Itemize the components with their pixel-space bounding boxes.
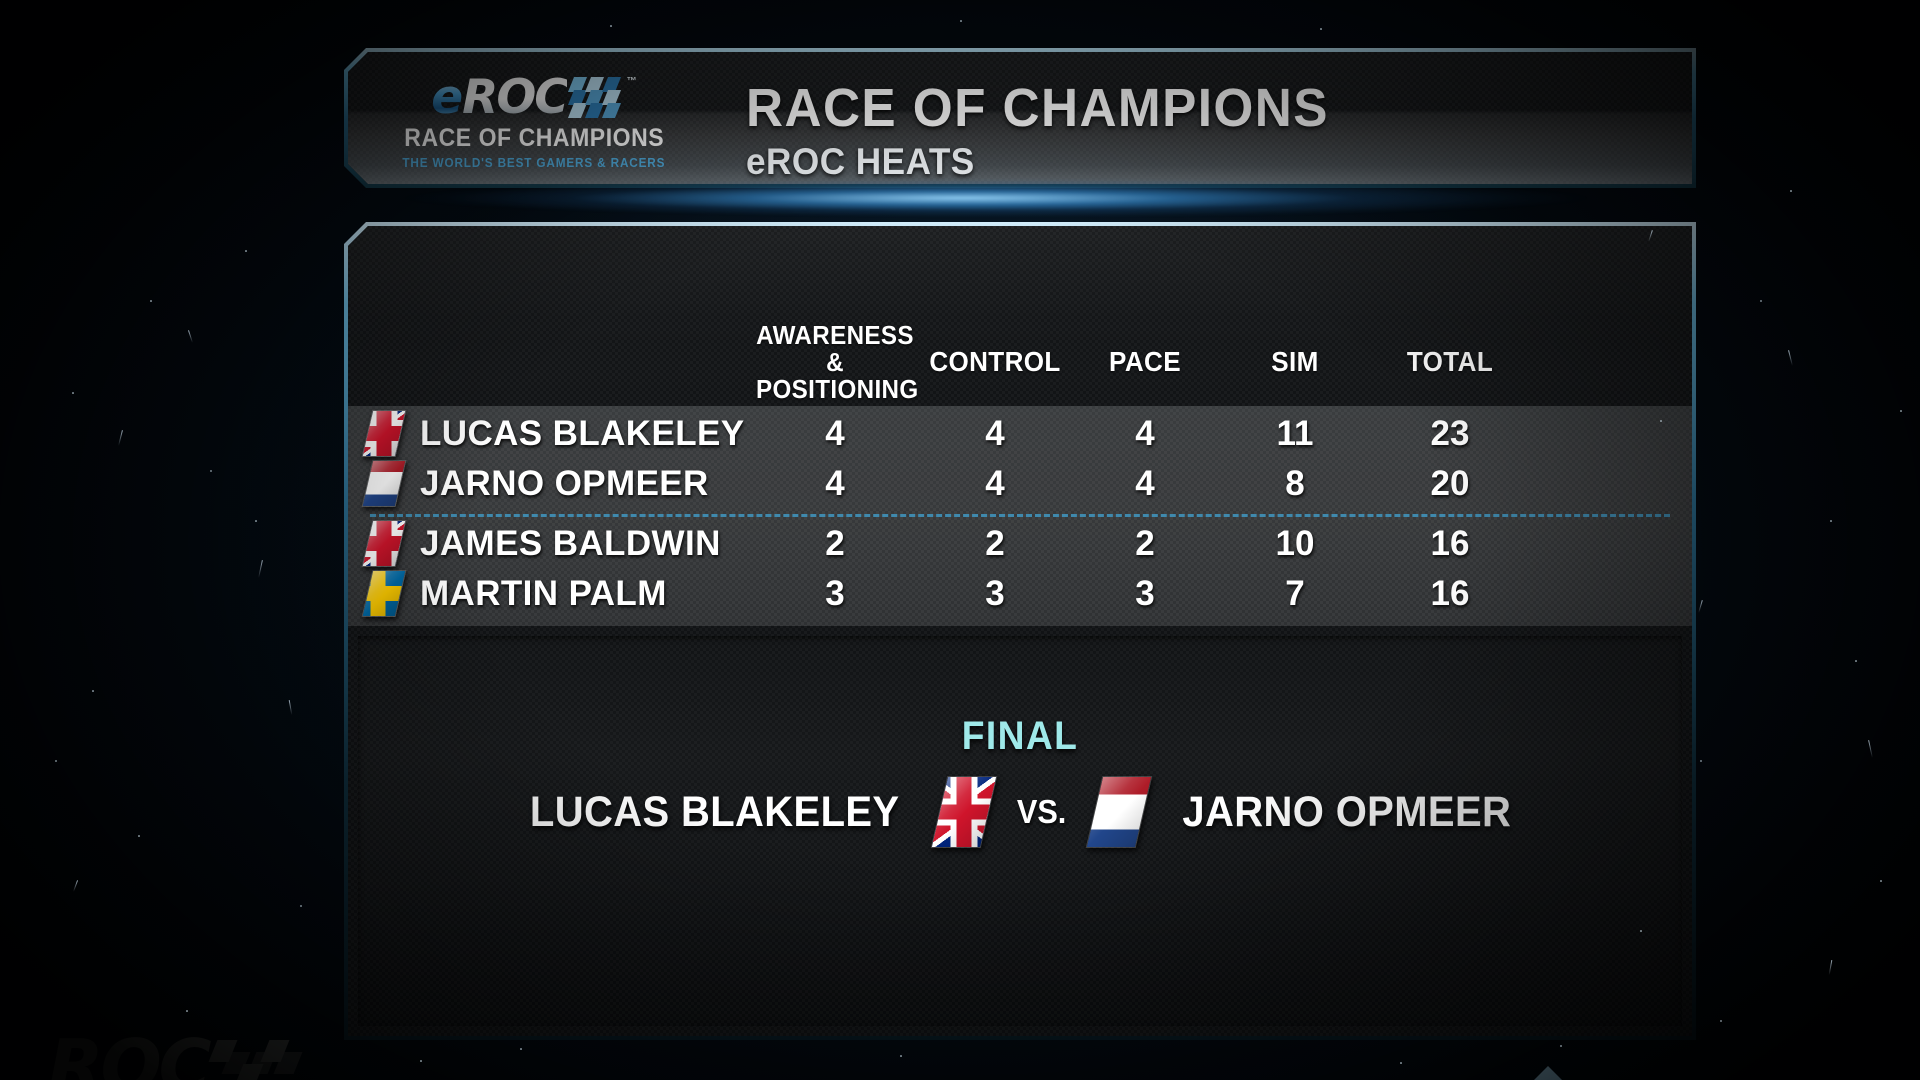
row-sim-cell: 7 — [1220, 574, 1370, 614]
column-header-control-label: CONTROL — [925, 347, 1065, 377]
corner-arrow-icon — [1534, 1066, 1562, 1080]
row-sim-cell: 10 — [1220, 524, 1370, 564]
final-left-driver-name: LUCAS BLAKELEY — [530, 788, 900, 837]
row-total-cell: 20 — [1370, 464, 1530, 504]
logo-tagline-text: THE WORLD'S BEST GAMERS & RACERS — [403, 156, 666, 170]
versus-label: VS. — [1017, 793, 1066, 831]
results-panel-frame: AWARENESS & POSITIONING CONTROL PACE SIM… — [344, 222, 1696, 1040]
column-header-sim-label: SIM — [1225, 347, 1365, 377]
driver-name: JAMES BALDWIN — [420, 524, 721, 563]
results-panel-fill: AWARENESS & POSITIONING CONTROL PACE SIM… — [348, 226, 1692, 1036]
driver-name: MARTIN PALM — [420, 574, 667, 613]
row-name-cell: JAMES BALDWIN — [420, 524, 750, 564]
row-name-cell: JARNO OPMEER — [420, 464, 750, 504]
column-header-awareness-line2: POSITIONING — [756, 376, 914, 403]
row-total-cell: 16 — [1370, 524, 1530, 564]
row-flag-cell — [348, 570, 420, 617]
header-panel-frame: e ROC ™ RACE OF CHAMPIONS THE WORLD'S BE… — [344, 48, 1696, 188]
header-panel: e ROC ™ RACE OF CHAMPIONS THE WORLD'S BE… — [344, 48, 1696, 188]
row-pace-cell: 2 — [1070, 524, 1220, 564]
row-awareness-cell: 2 — [750, 524, 920, 564]
driver-name: JARNO OPMEER — [420, 464, 709, 503]
row-total-cell: 16 — [1370, 574, 1530, 614]
flag-sweden-icon — [362, 570, 407, 617]
table-body: LUCAS BLAKELEY 4 4 4 11 23 JARNO OPM — [348, 406, 1692, 626]
header-content: e ROC ™ RACE OF CHAMPIONS THE WORLD'S BE… — [348, 52, 1692, 184]
watermark-checkered-flag-icon — [213, 1040, 297, 1080]
table-header-row: AWARENESS & POSITIONING CONTROL PACE SIM… — [348, 324, 1692, 400]
column-header-awareness-line1: AWARENESS & — [756, 322, 914, 376]
eroc-logo-wordmark: e ROC ™ — [431, 75, 637, 123]
flag-uk-icon — [362, 520, 407, 567]
column-header-total-label: TOTAL — [1376, 347, 1525, 377]
flag-netherlands-icon — [362, 460, 407, 507]
results-panel: AWARENESS & POSITIONING CONTROL PACE SIM… — [344, 222, 1696, 1040]
final-right-driver-name: JARNO OPMEER — [1183, 788, 1512, 837]
row-control-cell: 3 — [920, 574, 1070, 614]
driver-name: LUCAS BLAKELEY — [420, 414, 745, 453]
row-control-cell: 4 — [920, 464, 1070, 504]
final-label: FINAL — [404, 714, 1635, 759]
page-subtitle: eROC HEATS — [746, 141, 1329, 183]
logo-race-of-champions-text: RACE OF CHAMPIONS — [404, 124, 664, 153]
row-sim-cell: 11 — [1220, 414, 1370, 454]
logo-letters-roc: ROC — [462, 75, 567, 121]
flag-uk-icon — [362, 410, 407, 457]
final-matchup-panel: FINAL LUCAS BLAKELEY VS. JARNO OPMEER — [358, 636, 1682, 1026]
trademark-icon: ™ — [627, 76, 637, 87]
watermark-text: ROC — [48, 1034, 209, 1080]
logo-letter-e: e — [431, 75, 462, 121]
row-awareness-cell: 4 — [750, 464, 920, 504]
row-awareness-cell: 3 — [750, 574, 920, 614]
column-header-sim: SIM — [1220, 347, 1370, 377]
column-header-control: CONTROL — [920, 347, 1070, 377]
roc-watermark: ROC — [48, 1034, 297, 1080]
column-header-pace: PACE — [1070, 347, 1220, 377]
table-row[interactable]: JARNO OPMEER 4 4 4 8 20 — [348, 456, 1692, 511]
checkered-flag-icon — [571, 77, 625, 117]
page-title: RACE OF CHAMPIONS — [746, 78, 1329, 138]
row-control-cell: 2 — [920, 524, 1070, 564]
row-flag-cell — [348, 520, 420, 567]
row-name-cell: LUCAS BLAKELEY — [420, 414, 750, 454]
row-flag-cell — [348, 410, 420, 457]
row-flag-cell — [348, 460, 420, 507]
row-sim-cell: 8 — [1220, 464, 1370, 504]
header-title-block: RACE OF CHAMPIONS eROC HEATS — [746, 78, 1360, 183]
column-header-pace-label: PACE — [1075, 347, 1215, 377]
row-pace-cell: 4 — [1070, 414, 1220, 454]
column-header-awareness: AWARENESS & POSITIONING — [750, 322, 920, 403]
table-row[interactable]: LUCAS BLAKELEY 4 4 4 11 23 — [348, 406, 1692, 461]
table-row[interactable]: JAMES BALDWIN 2 2 2 10 16 — [348, 516, 1692, 571]
row-awareness-cell: 4 — [750, 414, 920, 454]
flag-uk-icon — [931, 776, 998, 848]
table-row[interactable]: MARTIN PALM 3 3 3 7 16 — [348, 566, 1692, 621]
row-control-cell: 4 — [920, 414, 1070, 454]
final-matchup-row: LUCAS BLAKELEY VS. JARNO OPMEER — [358, 776, 1682, 848]
row-pace-cell: 3 — [1070, 574, 1220, 614]
flag-netherlands-icon — [1086, 776, 1153, 848]
broadcast-graphic-stage: e ROC ™ RACE OF CHAMPIONS THE WORLD'S BE… — [0, 0, 1920, 1080]
header-panel-fill: e ROC ™ RACE OF CHAMPIONS THE WORLD'S BE… — [348, 52, 1692, 184]
row-pace-cell: 4 — [1070, 464, 1220, 504]
row-total-cell: 23 — [1370, 414, 1530, 454]
column-header-total: TOTAL — [1370, 347, 1530, 377]
eroc-logo: e ROC ™ RACE OF CHAMPIONS THE WORLD'S BE… — [384, 64, 684, 180]
row-name-cell: MARTIN PALM — [420, 574, 750, 614]
